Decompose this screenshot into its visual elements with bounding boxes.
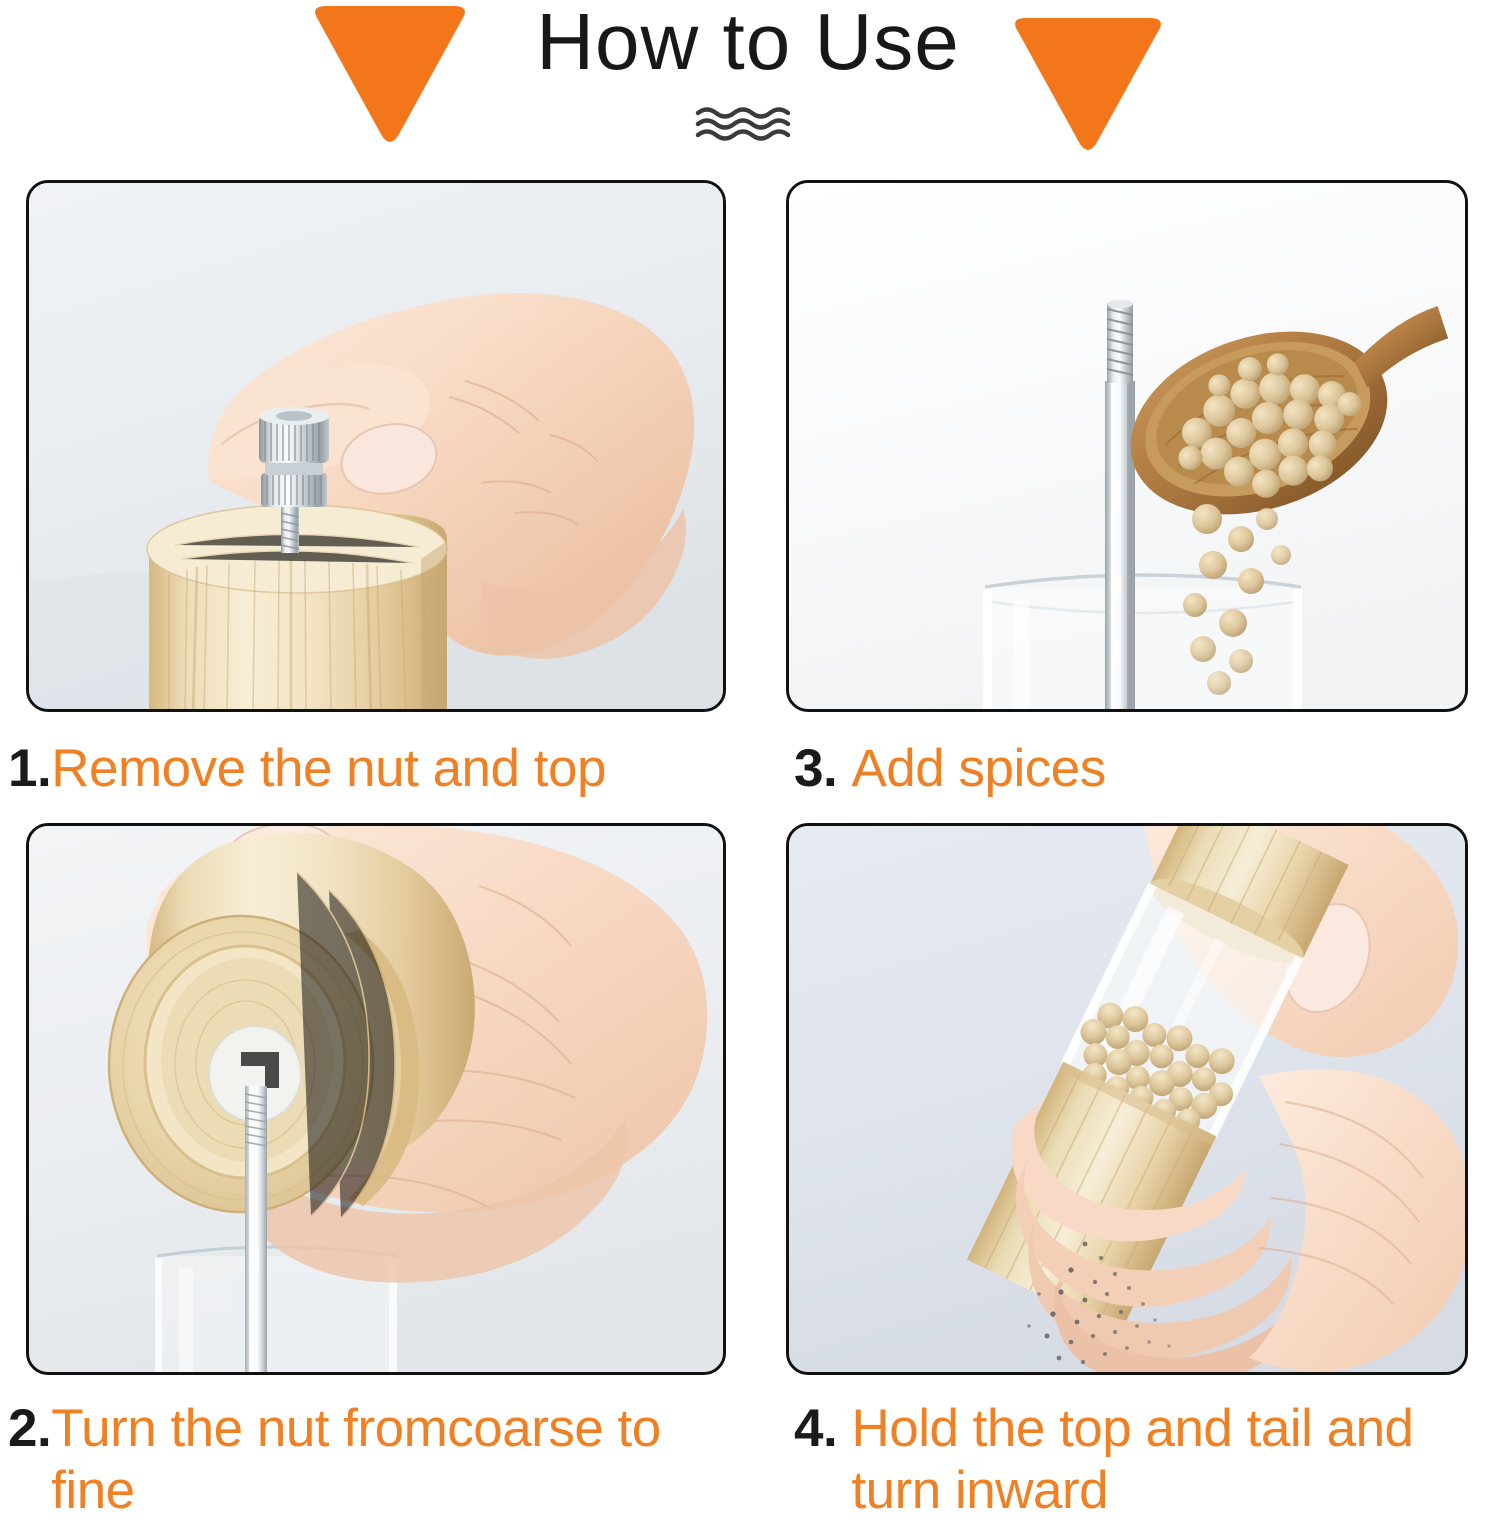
- step-3-text: Add spices: [851, 739, 1105, 798]
- step-1-photo: [26, 180, 726, 712]
- step-2-caption: 2.Turn the nut fromcoarse to fine: [8, 1398, 738, 1522]
- step-1-illustration: [29, 183, 726, 712]
- step-4-illustration: [789, 826, 1468, 1375]
- step-2-number: 2.: [8, 1399, 51, 1458]
- page-title: How to Use: [0, 0, 1496, 86]
- knurled-nut: [259, 407, 329, 507]
- wavy-lines-icon: [694, 104, 804, 144]
- step-3-number: 3.: [794, 739, 851, 798]
- step-1-caption: 1.Remove the nut and top: [8, 738, 738, 800]
- step-2-text: Turn the nut fromcoarse to fine: [51, 1398, 691, 1522]
- orange-down-triangle-icon-right: [1006, 16, 1170, 152]
- step-4-caption: 4. Hold the top and tail and turn inward: [794, 1398, 1494, 1522]
- step-4-text: Hold the top and tail and turn inward: [851, 1398, 1491, 1522]
- step-1-text: Remove the nut and top: [51, 739, 606, 798]
- step-3-illustration: [789, 183, 1468, 712]
- step-1-number: 1.: [8, 739, 51, 798]
- step-3-photo: [786, 180, 1468, 712]
- step-3-caption: 3. Add spices: [794, 738, 1484, 800]
- step-2-illustration: [29, 826, 726, 1375]
- step-4-number: 4.: [794, 1399, 851, 1458]
- step-4-photo: [786, 823, 1468, 1375]
- step-2-photo: [26, 823, 726, 1375]
- header: How to Use: [0, 0, 1496, 168]
